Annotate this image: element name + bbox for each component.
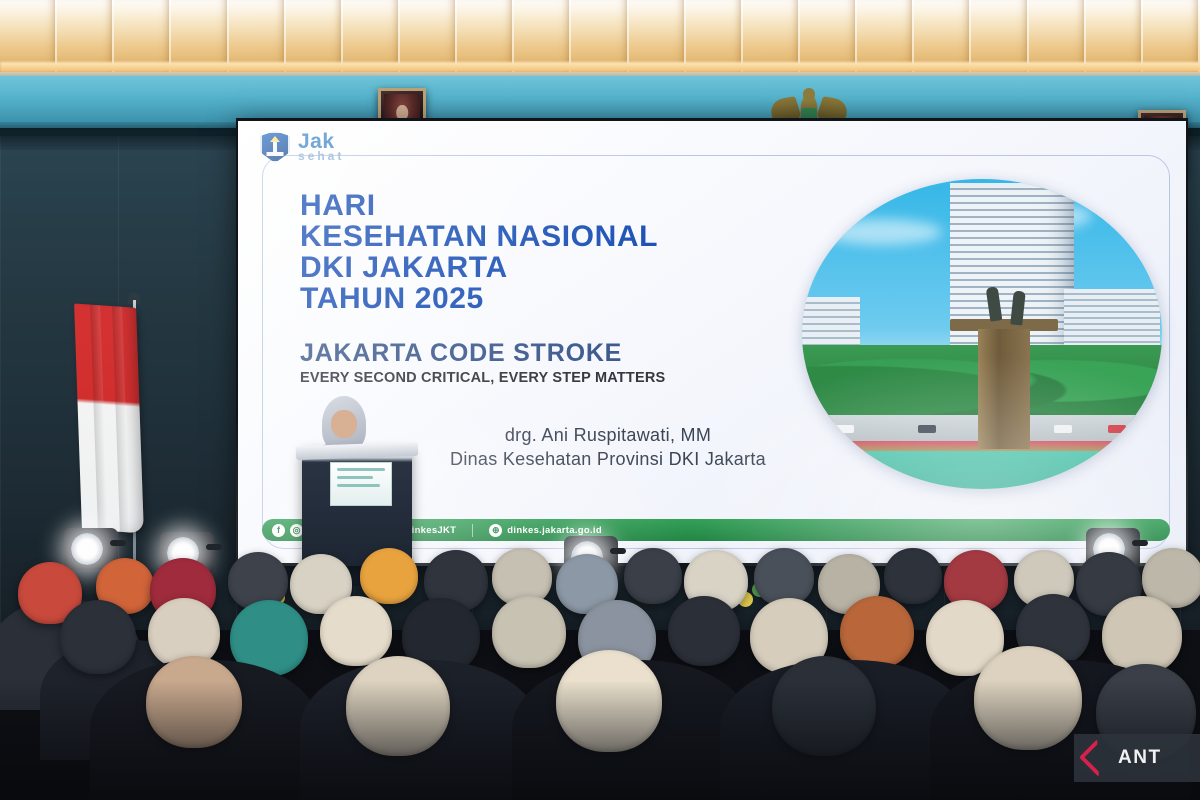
audience-head <box>360 548 418 604</box>
antara-watermark: ANT <box>1074 734 1200 782</box>
audience-head <box>840 596 914 668</box>
audience-head <box>1102 596 1182 674</box>
speaker-name: drg. Ani Ruspitawati, MM <box>348 423 868 447</box>
slide-subtitle: JAKARTA CODE STROKE <box>300 339 820 368</box>
audience-head <box>884 548 942 604</box>
ceiling-slats <box>0 0 1200 78</box>
speaker-affiliation: Dinas Kesehatan Provinsi DKI Jakarta <box>348 447 868 471</box>
title-line-1: HARI <box>300 191 820 222</box>
slide-subtitle-block: JAKARTA CODE STROKE EVERY SECOND CRITICA… <box>300 339 820 386</box>
conference-photo-scene: Jak sehat HARI KESEHATAN NASIONAL DKI JA… <box>0 0 1200 800</box>
indonesian-flag <box>74 303 144 533</box>
slide-speaker-block: drg. Ani Ruspitawati, MM Dinas Kesehatan… <box>348 423 868 472</box>
jakarta-seal-icon <box>260 131 290 163</box>
slide-tagline: EVERY SECOND CRITICAL, EVERY STEP MATTER… <box>300 370 820 386</box>
title-line-4: TAHUN 2025 <box>300 284 820 315</box>
antara-arrow-icon <box>1084 745 1112 771</box>
audience-head <box>320 596 392 666</box>
slide-photo-monument <box>802 179 1162 489</box>
title-line-3: DKI JAKARTA <box>300 253 820 284</box>
title-line-2: KESEHATAN NASIONAL <box>300 222 820 253</box>
slide-logo: Jak sehat <box>260 131 344 163</box>
watermark-text: ANT <box>1118 747 1162 769</box>
audience <box>0 500 1200 800</box>
audience-head <box>492 596 566 668</box>
audience-head <box>60 600 136 674</box>
slide-title: HARI KESEHATAN NASIONAL DKI JAKARTA TAHU… <box>300 191 820 315</box>
audience-head <box>668 596 740 666</box>
brand-sub: sehat <box>298 151 344 162</box>
audience-head <box>624 548 682 604</box>
